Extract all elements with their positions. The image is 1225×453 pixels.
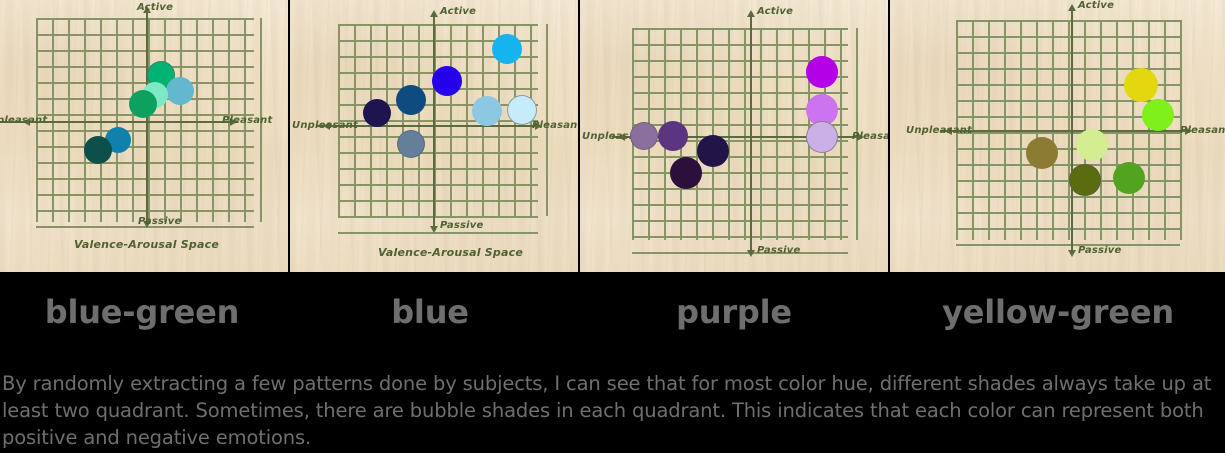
grid-line-horizontal (956, 52, 1180, 54)
grid-line-horizontal (338, 216, 538, 218)
grid-line-horizontal (956, 132, 1180, 134)
caption-text: By randomly extracting a few patterns do… (0, 352, 1225, 451)
bubble-slate-blue-gray (397, 130, 425, 158)
grid-line-horizontal (36, 18, 254, 20)
axis-label-unpleasant: Unpleasant (906, 125, 972, 136)
grid-line-horizontal (338, 232, 538, 234)
grid-line-horizontal (338, 24, 538, 26)
axis-label-active: Active (1078, 0, 1114, 11)
grid-line-horizontal (632, 236, 848, 238)
panel-plot-area: Active Passive Pleasant Unpleasant (890, 0, 1225, 272)
axis-label-active: Active (137, 2, 173, 13)
passive-arrow-icon (430, 226, 438, 233)
bubble-deep-indigo (697, 135, 729, 167)
active-arrow-icon (747, 10, 755, 17)
bubble-vivid-magenta (806, 56, 838, 88)
panel-purple: Active Passive Pleasant Unpleasant (580, 0, 888, 272)
grid-line-horizontal (36, 34, 254, 36)
grid-line-horizontal (36, 130, 254, 132)
grid-line-horizontal (632, 204, 848, 206)
grid-line-horizontal (36, 146, 254, 148)
grid-line-vertical (164, 18, 166, 222)
axis-label-active: Active (757, 6, 793, 17)
bubble-royal-purple (658, 121, 688, 151)
grid-line-horizontal (36, 66, 254, 68)
panel-plot-area: Active Passive Pleasant Unpleasant Valen… (290, 0, 578, 272)
bubble-bright-lime (1142, 99, 1174, 131)
bubble-very-dark-purple (670, 157, 702, 189)
grid-line-vertical (52, 18, 54, 222)
bubble-light-blue (472, 96, 502, 126)
bubble-pale-lavender (806, 121, 838, 153)
grid-line-horizontal (956, 148, 1180, 150)
grid-line-horizontal (632, 92, 848, 94)
panel-title: Valence-Arousal Space (74, 238, 219, 251)
grid-line-horizontal (956, 212, 1180, 214)
bubble-medium-green (129, 90, 157, 118)
panel-plot-area: Active Passive Pleasant Unpleasant (580, 0, 888, 272)
grid-line-horizontal (338, 184, 538, 186)
active-arrow-icon (1068, 4, 1076, 11)
grid-line-horizontal (956, 164, 1180, 166)
axis-label-pleasant: Pleasant (532, 120, 578, 131)
grid-line-horizontal (338, 168, 538, 170)
grid-line-horizontal (956, 244, 1180, 246)
panel-plot-area: Active Passive Pleasant pleasant Valence… (0, 0, 288, 272)
axis-label-passive: Passive (440, 220, 483, 231)
panel-yellow-green: Active Passive Pleasant Unpleasant (890, 0, 1225, 272)
grid-line-horizontal (338, 136, 538, 138)
grid-line-horizontal (36, 210, 254, 212)
axis-label-pleasant: Pleasant (1180, 125, 1225, 136)
grid-line-horizontal (338, 152, 538, 154)
bubble-midnight-navy (363, 99, 391, 127)
panel-strip: Active Passive Pleasant pleasant Valence… (0, 0, 1225, 272)
grid-line-vertical (116, 18, 118, 222)
grid-line-horizontal (956, 180, 1180, 182)
bubble-vivid-cyan (492, 34, 522, 64)
passive-arrow-icon (747, 250, 755, 257)
grid-line-vertical (68, 18, 70, 222)
grid-line-horizontal (956, 20, 1180, 22)
bubble-golden-yellow (1124, 68, 1158, 102)
arousal-axis (1071, 8, 1073, 254)
passive-arrow-icon (1068, 250, 1076, 257)
grid-line-vertical (84, 18, 86, 222)
grid-line-horizontal (36, 82, 254, 84)
figure-root: Active Passive Pleasant pleasant Valence… (0, 0, 1225, 453)
bubble-electric-blue (432, 66, 462, 96)
axis-label-passive: Passive (757, 245, 800, 256)
grid-line-vertical (212, 18, 214, 222)
bubble-dark-cobalt (396, 85, 426, 115)
bubble-steel-teal (166, 77, 194, 105)
hue-label-yellow-green: yellow-green (930, 272, 1186, 352)
active-arrow-icon (430, 10, 438, 17)
arousal-axis (433, 14, 435, 230)
panel-title: Valence-Arousal Space (378, 246, 523, 259)
bubble-pale-yellow-green (1076, 129, 1108, 161)
axis-label-unpleasant-cropped: pleasant (0, 115, 47, 126)
grid-line-horizontal (956, 228, 1180, 230)
axis-label-unpleasant: Unpleasant (292, 120, 358, 131)
axis-label-passive: Passive (1078, 245, 1121, 256)
caption-block: By randomly extracting a few patterns do… (0, 352, 1225, 453)
grid-line-horizontal (338, 200, 538, 202)
panel-blue: Active Passive Pleasant Unpleasant Valen… (290, 0, 578, 272)
panel-blue-green: Active Passive Pleasant pleasant Valence… (0, 0, 288, 272)
grid-line-horizontal (36, 162, 254, 164)
grid-line-horizontal (632, 44, 848, 46)
grid-line-horizontal (632, 220, 848, 222)
arousal-axis (750, 14, 752, 254)
axis-label-active: Active (440, 6, 476, 17)
grid-line-horizontal (632, 156, 848, 158)
grid-line-horizontal (36, 178, 254, 180)
axis-label-passive: Passive (138, 216, 181, 227)
grid-line-vertical (196, 18, 198, 222)
grid-line-horizontal (632, 172, 848, 174)
hue-label-blue: blue (302, 272, 558, 352)
grid-line-horizontal (956, 196, 1180, 198)
grid-line-horizontal (632, 252, 848, 254)
axis-label-pleasant: Pleasant (222, 115, 273, 126)
hue-label-blue-green: blue-green (14, 272, 270, 352)
grid-line-horizontal (36, 50, 254, 52)
grid-line-horizontal (956, 36, 1180, 38)
grid-line-horizontal (632, 188, 848, 190)
bubble-dark-teal (84, 136, 112, 164)
grid-line-vertical (100, 18, 102, 222)
grid-line-vertical (148, 18, 150, 222)
grid-line-vertical (180, 18, 182, 222)
axis-label-pleasant: Pleasant (852, 131, 888, 142)
hue-label-purple: purple (606, 272, 862, 352)
grid-line-horizontal (36, 194, 254, 196)
grid-line-vertical (132, 18, 134, 222)
hue-label-row: blue-green blue purple yellow-green (0, 272, 1225, 352)
grid-line-horizontal (632, 28, 848, 30)
